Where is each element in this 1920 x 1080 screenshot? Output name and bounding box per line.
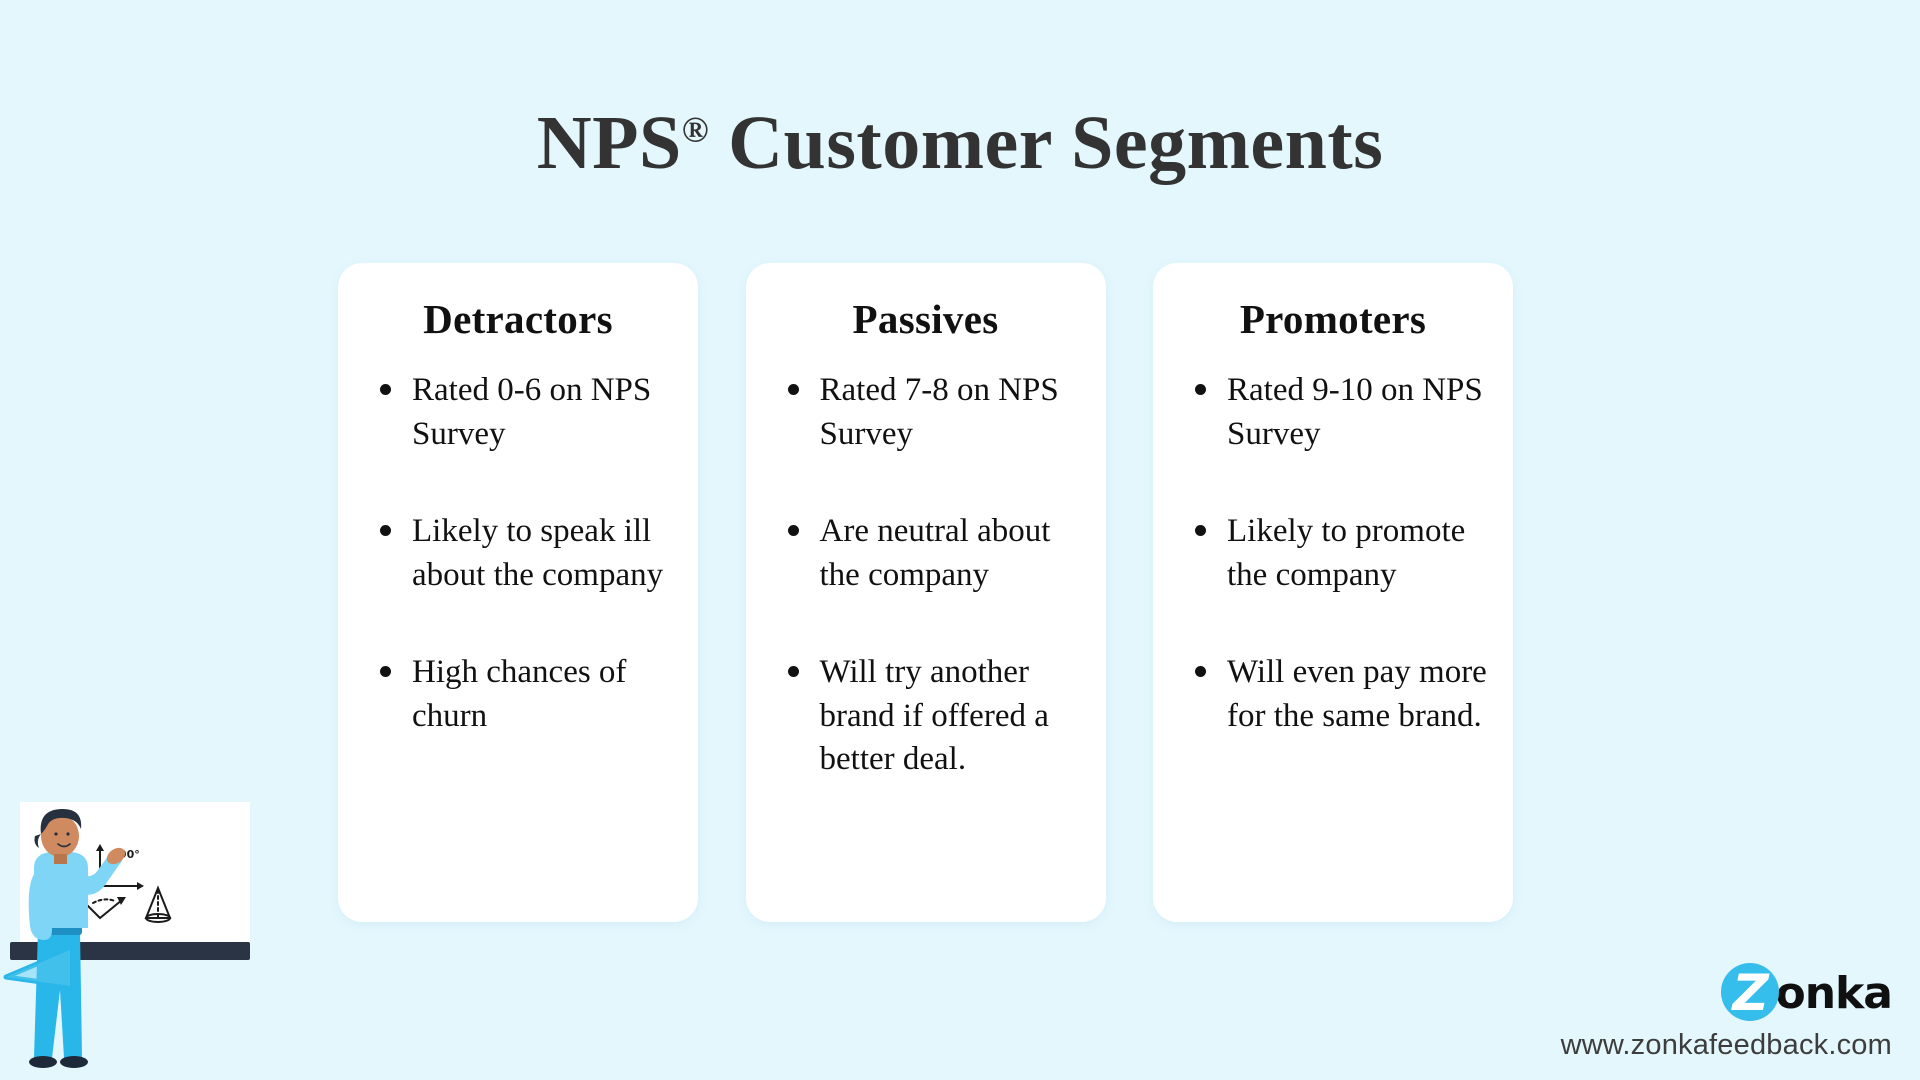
bullet-icon	[380, 525, 391, 536]
list-item: Will try another brand if offered a bett…	[784, 651, 1080, 782]
bullet-icon	[1195, 384, 1206, 395]
bullet-icon	[380, 384, 391, 395]
list-item-text: Will try another brand if offered a bett…	[820, 654, 1049, 777]
list-item-text: Rated 7-8 on NPS Survey	[820, 372, 1059, 452]
brand-url[interactable]: www.zonkafeedback.com	[1561, 1029, 1892, 1062]
card-bullet-list-promoters: Rated 9-10 on NPS Survey Likely to promo…	[1179, 369, 1487, 738]
page-title-nps: NPS	[537, 101, 682, 185]
list-item: Likely to speak ill about the company	[376, 510, 672, 597]
bullet-icon	[1195, 666, 1206, 677]
list-item-text: Are neutral about the company	[820, 513, 1051, 593]
segments-card-row: Detractors Rated 0-6 on NPS Survey Likel…	[338, 263, 1513, 922]
list-item: Will even pay more for the same brand.	[1191, 651, 1487, 738]
zonka-logo-mark: Z	[1721, 963, 1783, 1025]
page-title-rest: Customer Segments	[709, 101, 1384, 185]
card-title-passives: Passives	[772, 295, 1080, 343]
teacher-at-whiteboard-illustration: 90°	[0, 790, 255, 1080]
segment-card-passives: Passives Rated 7-8 on NPS Survey Are neu…	[746, 263, 1106, 922]
card-bullet-list-detractors: Rated 0-6 on NPS Survey Likely to speak …	[364, 369, 672, 738]
list-item-text: Will even pay more for the same brand.	[1227, 654, 1487, 734]
list-item-text: Rated 0-6 on NPS Survey	[412, 372, 651, 452]
list-item-text: Likely to speak ill about the company	[412, 513, 663, 593]
list-item-text: Rated 9-10 on NPS Survey	[1227, 372, 1483, 452]
bullet-icon	[380, 666, 391, 677]
bullet-icon	[788, 384, 799, 395]
card-title-promoters: Promoters	[1179, 295, 1487, 343]
list-item-text: Likely to promote the company	[1227, 513, 1465, 593]
segment-card-promoters: Promoters Rated 9-10 on NPS Survey Likel…	[1153, 263, 1513, 922]
list-item: Rated 9-10 on NPS Survey	[1191, 369, 1487, 456]
segment-card-detractors: Detractors Rated 0-6 on NPS Survey Likel…	[338, 263, 698, 922]
list-item-text: High chances of churn	[412, 654, 626, 734]
zonka-logo-wordmark: onka	[1775, 968, 1892, 1020]
bullet-icon	[788, 525, 799, 536]
list-item: Likely to promote the company	[1191, 510, 1487, 597]
list-item: Are neutral about the company	[784, 510, 1080, 597]
zonka-logo[interactable]: Z onka	[1561, 963, 1892, 1025]
card-bullet-list-passives: Rated 7-8 on NPS Survey Are neutral abou…	[772, 369, 1080, 782]
bullet-icon	[788, 666, 799, 677]
card-title-detractors: Detractors	[364, 295, 672, 343]
list-item: High chances of churn	[376, 651, 672, 738]
brand-block: Z onka www.zonkafeedback.com	[1561, 963, 1892, 1062]
list-item: Rated 0-6 on NPS Survey	[376, 369, 672, 456]
list-item: Rated 7-8 on NPS Survey	[784, 369, 1080, 456]
page-title: NPS® Customer Segments	[0, 100, 1920, 187]
registered-trademark-icon: ®	[682, 110, 709, 150]
bullet-icon	[1195, 525, 1206, 536]
zonka-logo-letter: Z	[1732, 966, 1768, 1020]
